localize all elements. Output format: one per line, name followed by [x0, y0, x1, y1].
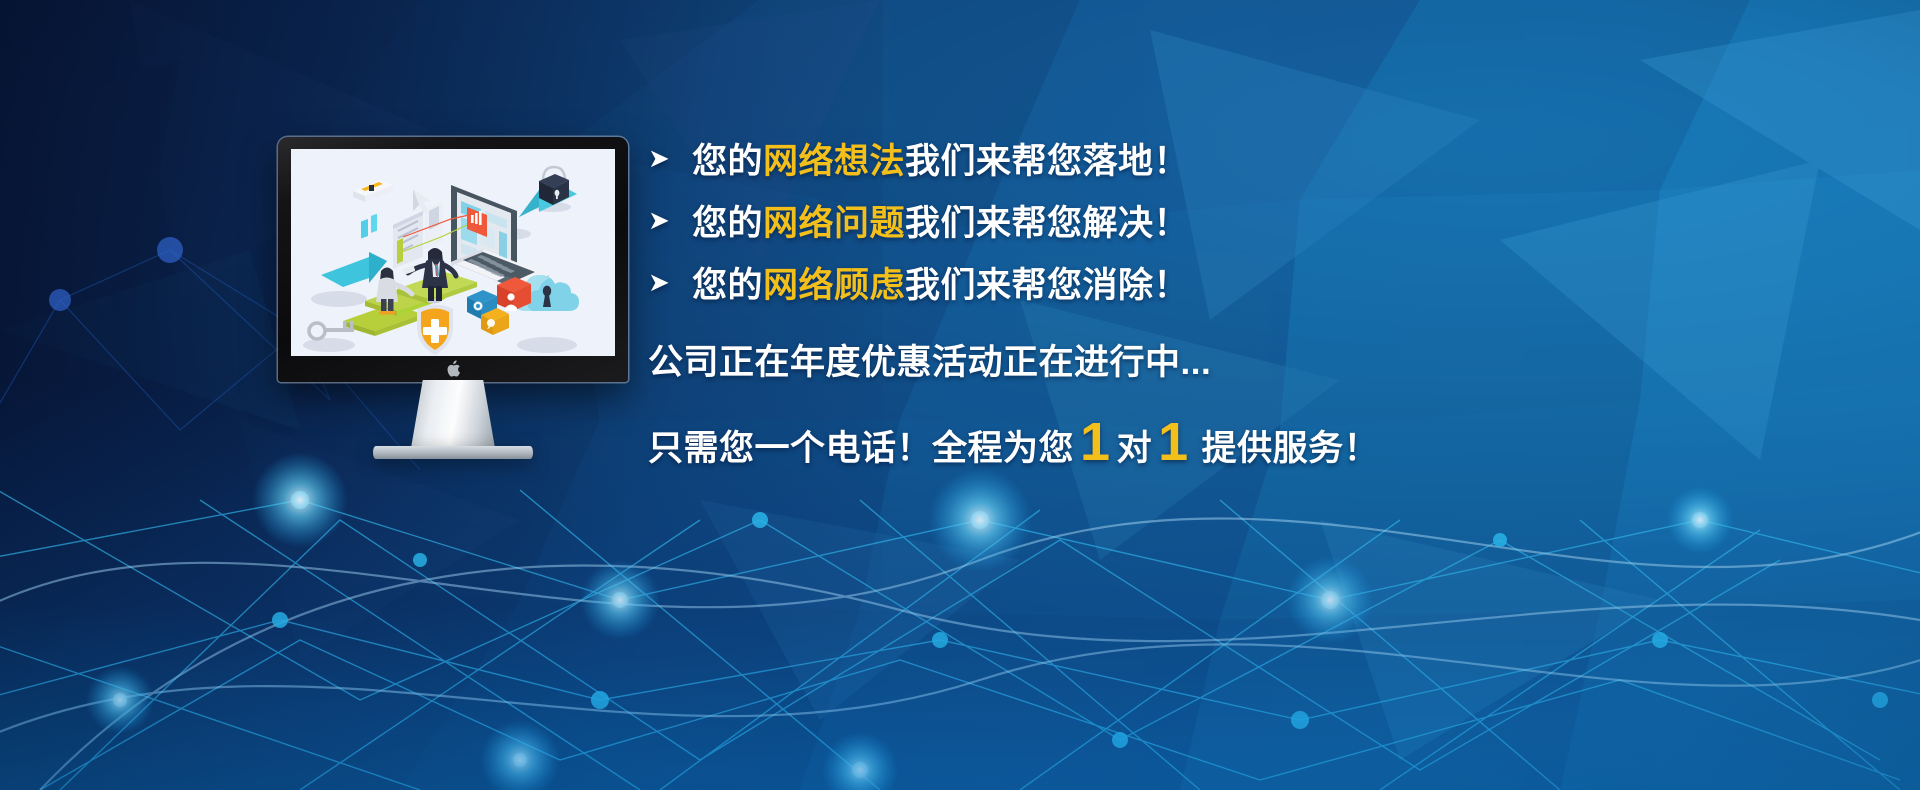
- promo-banner: ➤ 您的网络想法我们来帮您落地！ ➤ 您的网络问题我们来帮您解决！ ➤ 您的网络…: [0, 0, 1920, 790]
- arrow-bullet-icon: ➤: [648, 207, 692, 233]
- monitor-stand-neck: [411, 380, 495, 448]
- bullet-suffix-2: 我们来帮您解决！: [905, 204, 1189, 243]
- bullet-text-3: 您的网络顾虑我们来帮您消除！: [692, 257, 1189, 308]
- bullet-prefix-1: 您的: [692, 142, 763, 181]
- cta-line: 只需您一个电话！全程为您 1 对 1 提供服务！: [648, 415, 1748, 471]
- cta-number-2: 1: [1152, 415, 1195, 469]
- monitor-mockup: [278, 137, 628, 382]
- cta-number-1: 1: [1074, 415, 1117, 469]
- isometric-illustration: [291, 149, 615, 356]
- cta-part2: 提供服务！: [1202, 420, 1380, 471]
- monitor-stand-base: [373, 446, 533, 459]
- bullet-prefix-3: 您的: [692, 266, 763, 305]
- bullet-row-1: ➤ 您的网络想法我们来帮您落地！: [648, 128, 1748, 188]
- bullet-text-1: 您的网络想法我们来帮您落地！: [692, 133, 1189, 184]
- promo-line: 公司正在年度优惠活动正在进行中...: [648, 334, 1748, 385]
- bullet-text-2: 您的网络问题我们来帮您解决！: [692, 195, 1189, 246]
- arrow-bullet-icon: ➤: [648, 269, 692, 295]
- bullet-highlight-2: 网络问题: [763, 204, 905, 243]
- bullet-highlight-1: 网络想法: [763, 142, 905, 181]
- cta-part1: 只需您一个电话！全程为您: [648, 420, 1074, 471]
- cta-mid: 对: [1117, 420, 1153, 471]
- bullet-highlight-3: 网络顾虑: [763, 266, 905, 305]
- bullet-prefix-2: 您的: [692, 204, 763, 243]
- monitor-frame: [278, 137, 628, 382]
- arrow-bullet-icon: ➤: [648, 145, 692, 171]
- bullet-suffix-1: 我们来帮您落地！: [905, 142, 1189, 181]
- headline-copy-block: ➤ 您的网络想法我们来帮您落地！ ➤ 您的网络问题我们来帮您解决！ ➤ 您的网络…: [648, 128, 1748, 471]
- bullet-suffix-3: 我们来帮您消除！: [905, 266, 1189, 305]
- monitor-screen: [291, 149, 615, 356]
- bullet-row-3: ➤ 您的网络顾虑我们来帮您消除！: [648, 252, 1748, 312]
- bullet-row-2: ➤ 您的网络问题我们来帮您解决！: [648, 190, 1748, 250]
- apple-logo-icon: [445, 360, 461, 378]
